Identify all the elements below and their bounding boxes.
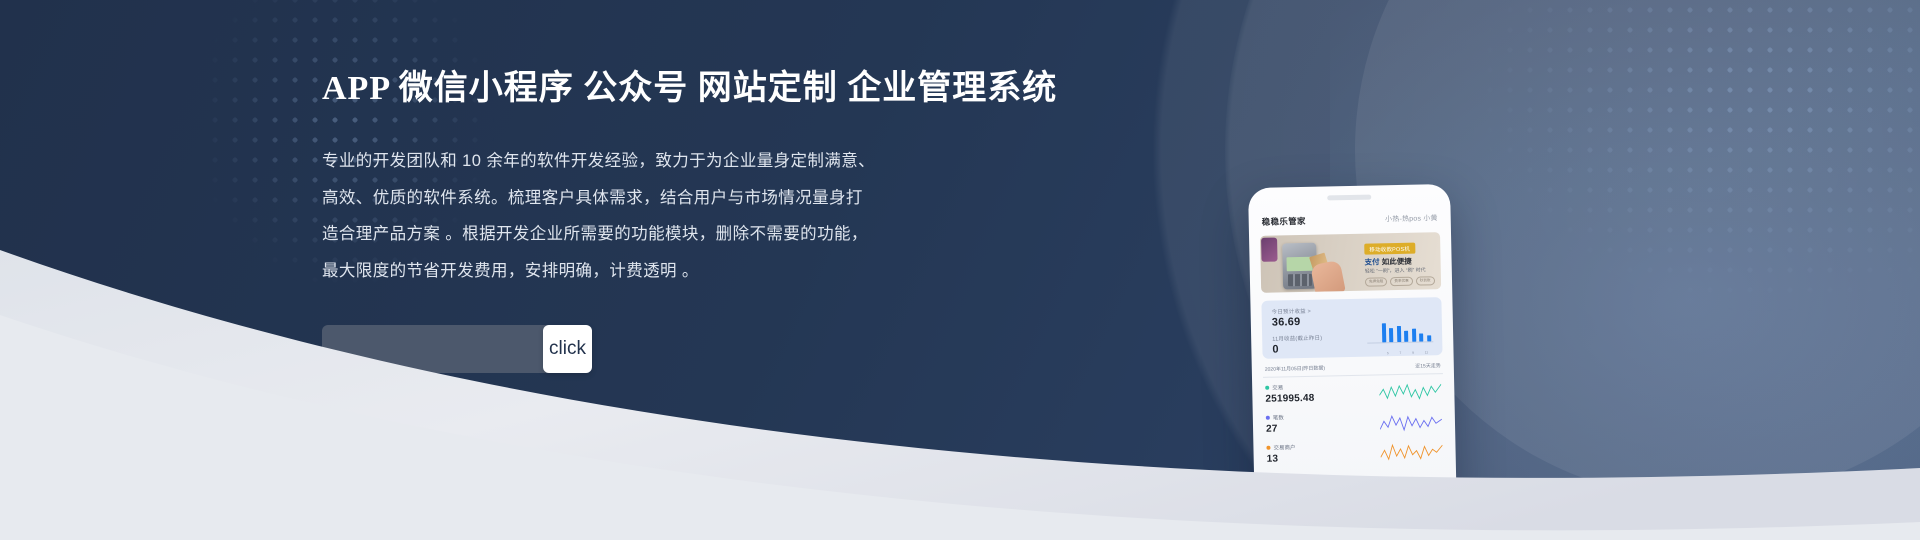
hero-description-line-1: 专业的开发团队和 10 余年的软件开发经验，致力于为企业量身定制满意、 bbox=[322, 143, 1042, 180]
bottom-wave-decoration bbox=[0, 210, 1920, 540]
page-title: APP 微信小程序 公众号 网站定制 企业管理系统 bbox=[322, 60, 1042, 109]
phone-speaker bbox=[1327, 195, 1371, 201]
hero-banner: APP 微信小程序 公众号 网站定制 企业管理系统 专业的开发团队和 10 余年… bbox=[0, 0, 1920, 540]
